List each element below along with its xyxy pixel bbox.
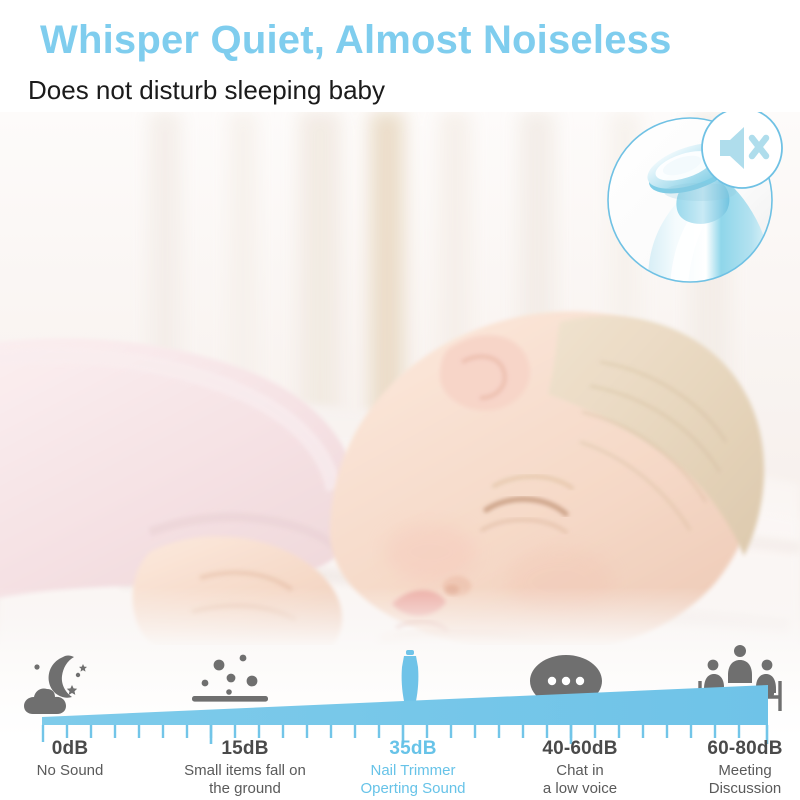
page-title: Whisper Quiet, Almost Noiseless	[40, 18, 780, 63]
falling-particles-icon	[192, 655, 268, 702]
scale-marker-60-80db-value: 60-80dB	[640, 738, 800, 760]
page-subtitle: Does not disturb sleeping baby	[28, 75, 385, 106]
nail-trimmer-icon	[402, 650, 419, 706]
scale-labels: 0dB No Sound 15dB Small items fall on th…	[0, 738, 800, 800]
scale-marker-60-80db: 60-80dB Meeting Discussion	[640, 738, 800, 798]
scale-marker-60-80db-desc-line1: Meeting	[640, 762, 800, 780]
product-closeup-inset	[604, 104, 786, 286]
header: Whisper Quiet, Almost Noiseless Does not…	[0, 0, 800, 112]
noise-level-scale: 0dB No Sound 15dB Small items fall on th…	[0, 645, 800, 800]
scale-marker-60-80db-desc-line2: Discussion	[640, 780, 800, 798]
moon-cloud-stars-icon	[24, 656, 87, 715]
product-infographic: Whisper Quiet, Almost Noiseless Does not…	[0, 0, 800, 800]
